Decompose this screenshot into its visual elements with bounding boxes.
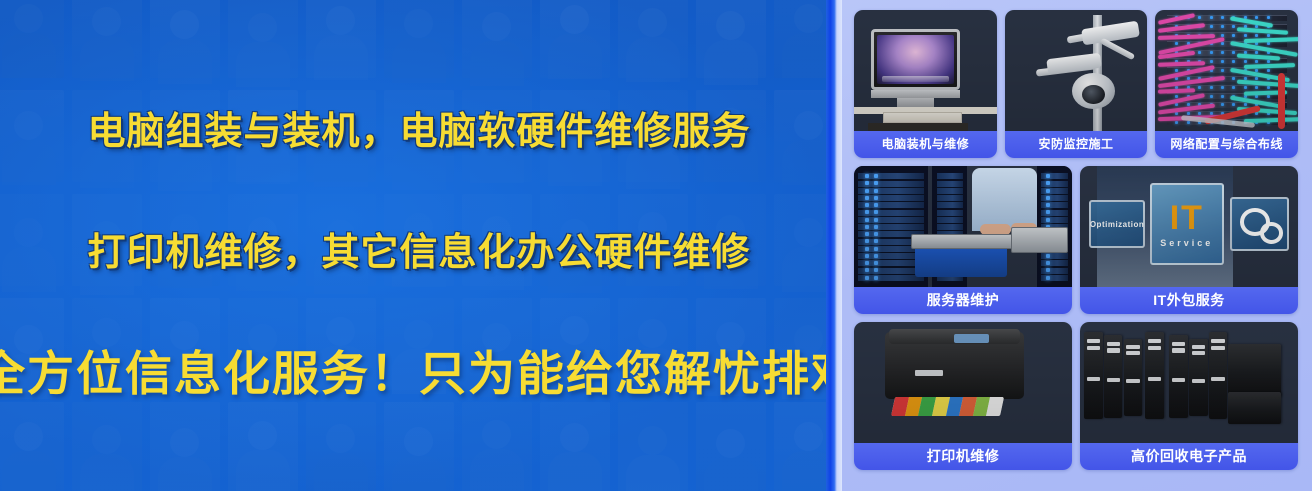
cctv-camera-photo: [1005, 10, 1148, 131]
headline-line-1: 电脑组装与装机，电脑软硬件维修服务: [87, 100, 750, 155]
service-row-2: 服务器维护 Optimization IT Service: [854, 166, 1298, 314]
service-card-caption: 服务器维护: [854, 287, 1072, 314]
server-maintenance-photo: [854, 166, 1072, 287]
service-card-caption: IT外包服务: [1080, 287, 1298, 314]
service-card-caption: 安防监控施工: [1005, 131, 1148, 158]
service-card-security-monitoring[interactable]: 安防监控施工: [1005, 10, 1148, 158]
service-card-electronics-recycling[interactable]: 高价回收电子产品: [1080, 322, 1298, 470]
pc-towers-photo: [1080, 322, 1298, 443]
headline-line-2: 打印机维修，其它信息化办公硬件维修: [87, 221, 750, 276]
service-row-1: 电脑装机与维修 安防监控施工: [854, 10, 1298, 158]
promotional-banner: 电脑组装与装机，电脑软硬件维修服务 打印机维修，其它信息化办公硬件维修 全方位信…: [0, 0, 1312, 491]
service-card-caption: 打印机维修: [854, 443, 1072, 470]
vertical-divider: [826, 0, 842, 491]
it-service-photo: Optimization IT Service: [1080, 166, 1298, 287]
printer-photo: [854, 322, 1072, 443]
service-row-3: 打印机维修 高价回收电子产品: [854, 322, 1298, 470]
service-card-network-cabling[interactable]: 网络配置与综合布线: [1155, 10, 1298, 158]
imac-desktop-photo: [854, 10, 997, 131]
service-card-printer-repair[interactable]: 打印机维修: [854, 322, 1072, 470]
service-card-caption: 电脑装机与维修: [854, 131, 997, 158]
service-card-caption: 高价回收电子产品: [1080, 443, 1298, 470]
service-card-caption: 网络配置与综合布线: [1155, 131, 1298, 158]
service-card-it-outsourcing[interactable]: Optimization IT Service: [1080, 166, 1298, 314]
service-card-panel: 电脑装机与维修 安防监控施工: [842, 0, 1312, 491]
network-cabling-photo: [1155, 10, 1298, 131]
service-card-computer-assembly[interactable]: 电脑装机与维修: [854, 10, 997, 158]
headline-copy: 电脑组装与装机，电脑软硬件维修服务 打印机维修，其它信息化办公硬件维修 全方位信…: [0, 0, 838, 491]
headline-line-3: 全方位信息化服务！只为能给您解忧排难: [0, 335, 860, 404]
service-card-server-maintenance[interactable]: 服务器维护: [854, 166, 1072, 314]
